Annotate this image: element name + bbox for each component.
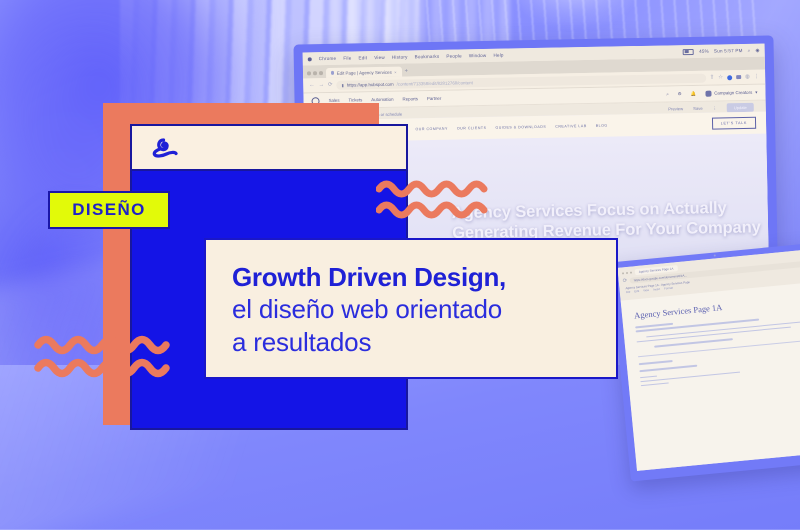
site-nav-creative-lab[interactable]: CREATIVE LAB [555,124,587,129]
menu-item-help[interactable]: Help [493,53,503,58]
doc-menu-format[interactable]: Format [664,286,673,291]
editor-save-button[interactable]: Save [693,106,703,111]
laptop-lid: Agency Services Page 1A ⟳ https://docs.g… [610,242,800,481]
category-badge: DISEÑO [48,191,170,229]
window-controls[interactable] [307,71,323,78]
laptop-reload-icon[interactable]: ⟳ [623,278,628,284]
omnibox-actions: ⇪ ☆ ◍ ⋮ [710,74,760,81]
back-icon[interactable]: ← [309,82,315,88]
url-text: https://app.hubspot.com [347,81,394,87]
reload-icon[interactable]: ⟳ [328,82,333,88]
menu-item-window[interactable]: Window [469,53,487,58]
editor-bar-spacer [412,109,658,114]
doc-menu-view[interactable]: View [643,288,649,293]
close-icon[interactable]: × [394,69,396,74]
share-icon[interactable]: ⇪ [710,75,715,81]
menu-bar-spacer [511,52,676,55]
laptop-document-body: Agency Services Page 1A [621,282,800,471]
hubspot-nav-tickets[interactable]: Tickets [348,97,362,102]
promo-graphic: Chrome File Edit View History Bookmarks … [0,0,800,530]
editor-update-button[interactable]: Update [727,103,754,112]
wave-decoration-left [34,331,186,379]
profile-icon[interactable]: ◍ [745,74,750,80]
menu-bar-status-items: 45% Sun 5:57 PM ⌕ ◉ [683,47,760,54]
loop-knot-logo-icon [150,137,180,159]
menu-bar-clock: Sun 5:57 PM [714,48,743,54]
doc-menu-edit[interactable]: Edit [634,289,639,293]
control-center-icon[interactable]: ◉ [755,47,759,53]
notifications-bell-icon[interactable]: 🔔 [691,90,697,96]
document-paragraph [640,360,800,386]
doc-menu-insert[interactable]: Insert [653,287,660,292]
account-switcher[interactable]: Campaign Creators ▾ [705,89,757,96]
chevron-down-icon: ▾ [755,89,757,95]
favicon-icon [331,71,334,74]
bookmark-star-icon[interactable]: ☆ [718,74,723,80]
doc-menu-file[interactable]: File [626,290,631,294]
text-line [640,371,739,382]
hubspot-nav-reports[interactable]: Reports [402,96,417,101]
text-line [639,365,697,372]
menu-item-edit[interactable]: Edit [358,55,367,60]
editor-preview-button[interactable]: Preview [668,106,683,111]
title-card: Growth Driven Design, el diseño web orie… [204,238,618,379]
gear-icon[interactable]: ⚙ [678,91,682,97]
battery-icon [683,48,694,54]
title-line-2: el diseño web orientado [232,294,590,325]
wave-decoration-right [376,176,498,220]
new-tab-button[interactable]: + [405,68,409,76]
site-cta-button[interactable]: LET'S TALK [712,117,757,129]
menu-item-bookmarks[interactable]: Bookmarks [415,54,440,59]
hubspot-nav-spacer [450,94,657,98]
site-nav-guides[interactable]: GUIDES & DOWNLOADS [495,125,546,130]
hubspot-nav-automation[interactable]: Automation [371,97,393,102]
blue-card-header-strip [132,126,406,171]
search-icon[interactable]: ⌕ [666,91,669,96]
extension-square-icon[interactable] [736,75,741,79]
document-divider [638,340,800,357]
laptop-window-controls[interactable] [622,271,633,274]
browser-tab[interactable]: Edit Page | Agency Services × [326,67,402,78]
account-name: Campaign Creators [714,90,752,96]
laptop-screen: Agency Services Page 1A ⟳ https://docs.g… [617,249,800,471]
tab-title: Edit Page | Agency Services [337,69,392,75]
title-line-3: a resultados [232,327,590,358]
hubspot-nav-partner[interactable]: Partner [427,96,441,101]
site-hero-headline: Agency Services Focus on Actually Genera… [452,197,783,244]
text-line [640,375,657,378]
spotlight-search-icon[interactable]: ⌕ [748,48,751,53]
category-badge-label: DISEÑO [72,200,146,220]
text-line [641,382,669,386]
url-path-text: /content/713358/edit/82812768/content [397,80,473,86]
menu-item-view[interactable]: View [374,55,385,60]
menu-item-history[interactable]: History [392,54,408,59]
battery-percent: 45% [699,49,709,54]
menu-item-people[interactable]: People [446,53,462,58]
site-nav-spacer [617,124,703,126]
lock-icon: ▮ [342,82,344,87]
webcam-icon [713,254,716,257]
menu-item-file[interactable]: File [343,56,351,61]
site-nav-our-company[interactable]: OUR COMPANY [415,127,447,132]
title-line-1: Growth Driven Design, [232,262,590,292]
site-nav-our-clients[interactable]: OUR CLIENTS [457,126,487,131]
avatar [705,90,711,96]
site-nav-blog[interactable]: BLOG [596,124,608,128]
laptop: Agency Services Page 1A ⟳ https://docs.g… [610,242,800,481]
menu-item-chrome[interactable]: Chrome [319,56,337,61]
menu-kebab-icon[interactable]: ⋮ [754,74,760,80]
apple-logo-icon [308,57,312,61]
forward-icon[interactable]: → [319,82,325,88]
text-line [639,360,673,365]
editor-more-icon[interactable]: ⋮ [713,106,717,111]
extension-blue-icon[interactable] [727,75,732,80]
